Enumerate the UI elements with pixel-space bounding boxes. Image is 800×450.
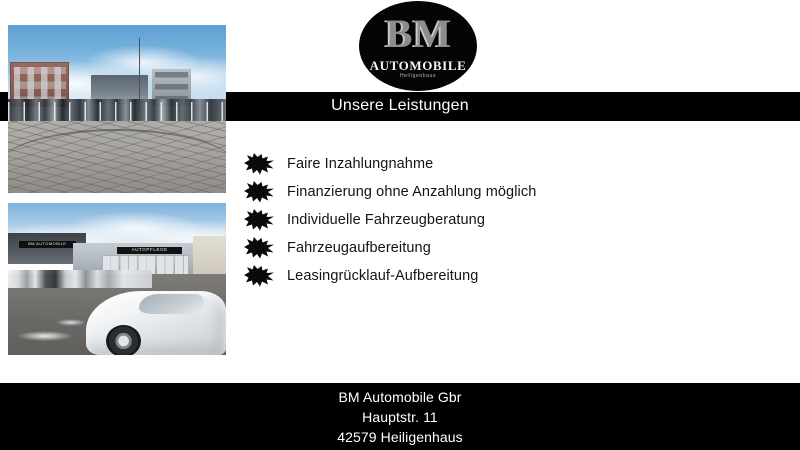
contact-footer: BM Automobile Gbr Hauptstr. 11 42579 Hei… xyxy=(0,383,800,450)
services-list: Faire Inzahlungnahme Finanzierung ohne A… xyxy=(243,150,663,290)
starburst-bullet-icon xyxy=(243,265,275,287)
logo-brand-text: BM xyxy=(359,12,477,56)
service-item: Fahrzeugaufbereitung xyxy=(243,234,663,262)
service-label: Finanzierung ohne Anzahlung möglich xyxy=(287,184,536,200)
service-label: Leasingrücklauf-Aufbereitung xyxy=(287,268,478,284)
starburst-bullet-icon xyxy=(243,181,275,203)
dealership-lot-photo xyxy=(8,25,226,193)
service-item: Leasingrücklauf-Aufbereitung xyxy=(243,262,663,290)
service-item: Finanzierung ohne Anzahlung möglich xyxy=(243,178,663,206)
service-label: Fahrzeugaufbereitung xyxy=(287,240,431,256)
company-logo: BM AUTOMOBILE Heiligenhaus xyxy=(359,1,477,91)
photo-snow-patch xyxy=(56,319,87,327)
footer-city-line: 42579 Heiligenhaus xyxy=(0,429,800,445)
service-label: Individuelle Fahrzeugberatung xyxy=(287,212,485,228)
service-item: Faire Inzahlungnahme xyxy=(243,150,663,178)
photo-left-sign: BM AUTOMOBILE xyxy=(19,241,76,248)
logo-city-text: Heiligenhaus xyxy=(359,73,477,79)
photo-autopflege-sign: AUTOPFLEGE xyxy=(117,247,182,254)
logo-subtitle-text: AUTOMOBILE xyxy=(359,58,477,74)
photo-car-windshield xyxy=(139,294,204,314)
starburst-bullet-icon xyxy=(243,153,275,175)
photo-inner: BM AUTOMOBILE AUTOPFLEGE xyxy=(8,203,226,355)
starburst-bullet-icon xyxy=(243,209,275,231)
dealership-service-photo: BM AUTOMOBILE AUTOPFLEGE xyxy=(8,203,226,355)
service-label: Faire Inzahlungnahme xyxy=(287,156,433,172)
photo-car-wheel xyxy=(106,325,141,355)
starburst-bullet-icon xyxy=(243,237,275,259)
photo-right-building xyxy=(193,236,226,276)
service-item: Individuelle Fahrzeugberatung xyxy=(243,206,663,234)
photo-parked-cars-row xyxy=(8,270,152,288)
photo-inner xyxy=(8,25,226,193)
footer-company-name: BM Automobile Gbr xyxy=(0,389,800,405)
footer-street-address: Hauptstr. 11 xyxy=(0,409,800,425)
